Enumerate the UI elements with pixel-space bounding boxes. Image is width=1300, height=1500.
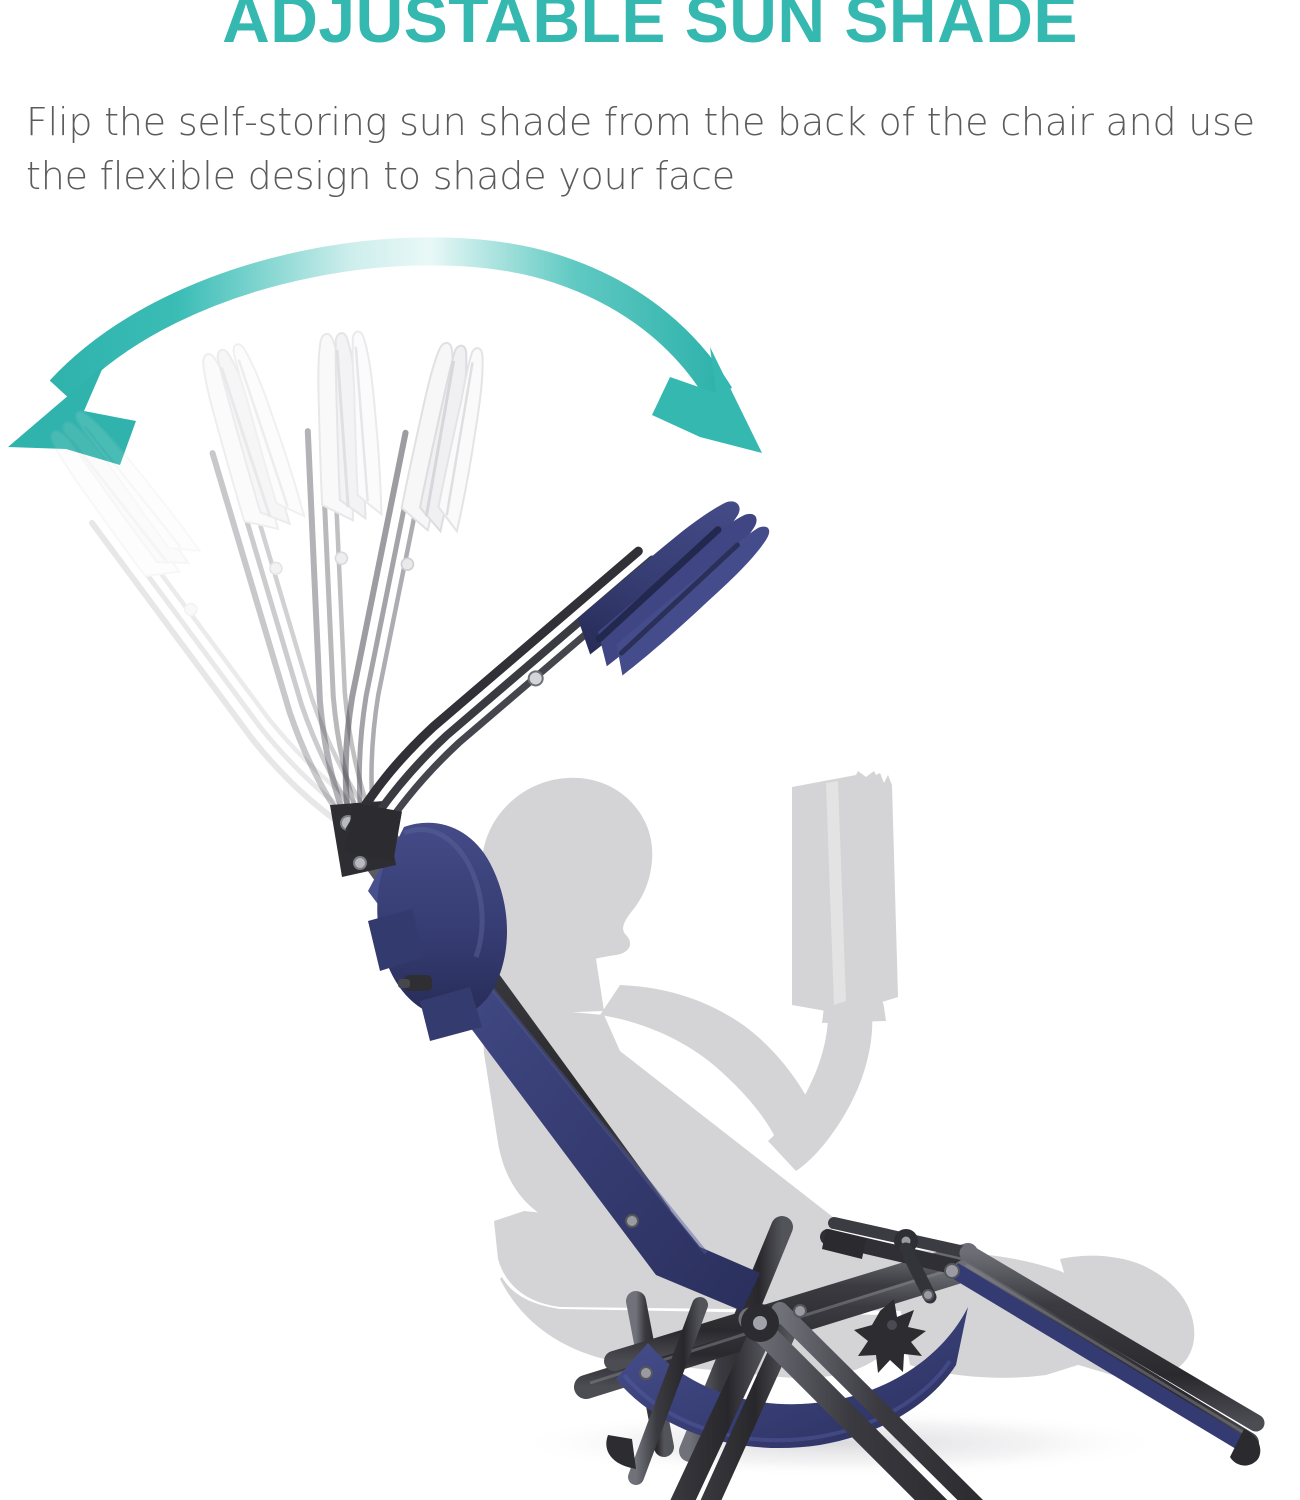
product-feature-image: ADJUSTABLE SUN SHADE Flip the self-stori… xyxy=(0,0,1300,1500)
shade-ghost-4 xyxy=(241,335,587,834)
page-subtitle: Flip the self-storing sun shade from the… xyxy=(26,96,1274,204)
product-illustration xyxy=(0,215,1300,1500)
page-title: ADJUSTABLE SUN SHADE xyxy=(222,0,1078,52)
adjustment-arc-arrow xyxy=(8,251,762,465)
header: ADJUSTABLE SUN SHADE Flip the self-stori… xyxy=(0,0,1300,215)
shade-ghost-3 xyxy=(139,319,567,834)
